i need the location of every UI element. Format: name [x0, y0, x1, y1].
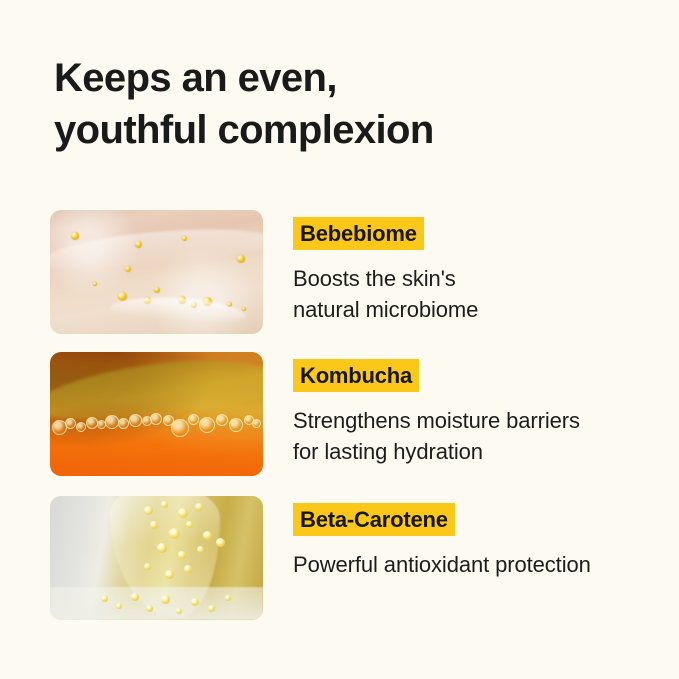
feature-row: Beta-Carotene Powerful antioxidant prote… — [50, 496, 650, 620]
ingredient-tag: Kombucha — [293, 359, 419, 392]
description-line-2: for lasting hydration — [293, 436, 650, 467]
liquid-pool — [50, 587, 263, 620]
feature-description: Powerful antioxidant protection — [293, 549, 650, 580]
description-line-1: Boosts the skin's — [293, 263, 650, 294]
ingredient-tag: Bebebiome — [293, 217, 424, 250]
description-line-1: Strengthens moisture barriers — [293, 405, 650, 436]
headline-line-2: youthful complexion — [54, 104, 614, 156]
bubble-foam-layer — [50, 409, 263, 436]
feature-description: Boosts the skin's natural microbiome — [293, 263, 650, 325]
serum-droplets-on-skin-photo — [50, 210, 263, 334]
description-line-1: Powerful antioxidant protection — [293, 549, 650, 580]
feature-row: Kombucha Strengthens moisture barriers f… — [50, 352, 650, 476]
description-line-2: natural microbiome — [293, 294, 650, 325]
feature-row: Bebebiome Boosts the skin's natural micr… — [50, 210, 650, 334]
page-title: Keeps an even, youthful complexion — [54, 52, 614, 156]
feature-text-block: Kombucha Strengthens moisture barriers f… — [263, 352, 650, 467]
headline-line-1: Keeps an even, — [54, 52, 614, 104]
ingredient-tag: Beta-Carotene — [293, 503, 455, 536]
feature-text-block: Beta-Carotene Powerful antioxidant prote… — [263, 496, 650, 580]
kombucha-bubbles-photo — [50, 352, 263, 476]
golden-gel-beads-photo — [50, 496, 263, 620]
product-benefits-graphic: Keeps an even, youthful complexion Bebeb… — [0, 0, 679, 679]
feature-description: Strengthens moisture barriers for lastin… — [293, 405, 650, 467]
feature-text-block: Bebebiome Boosts the skin's natural micr… — [263, 210, 650, 325]
